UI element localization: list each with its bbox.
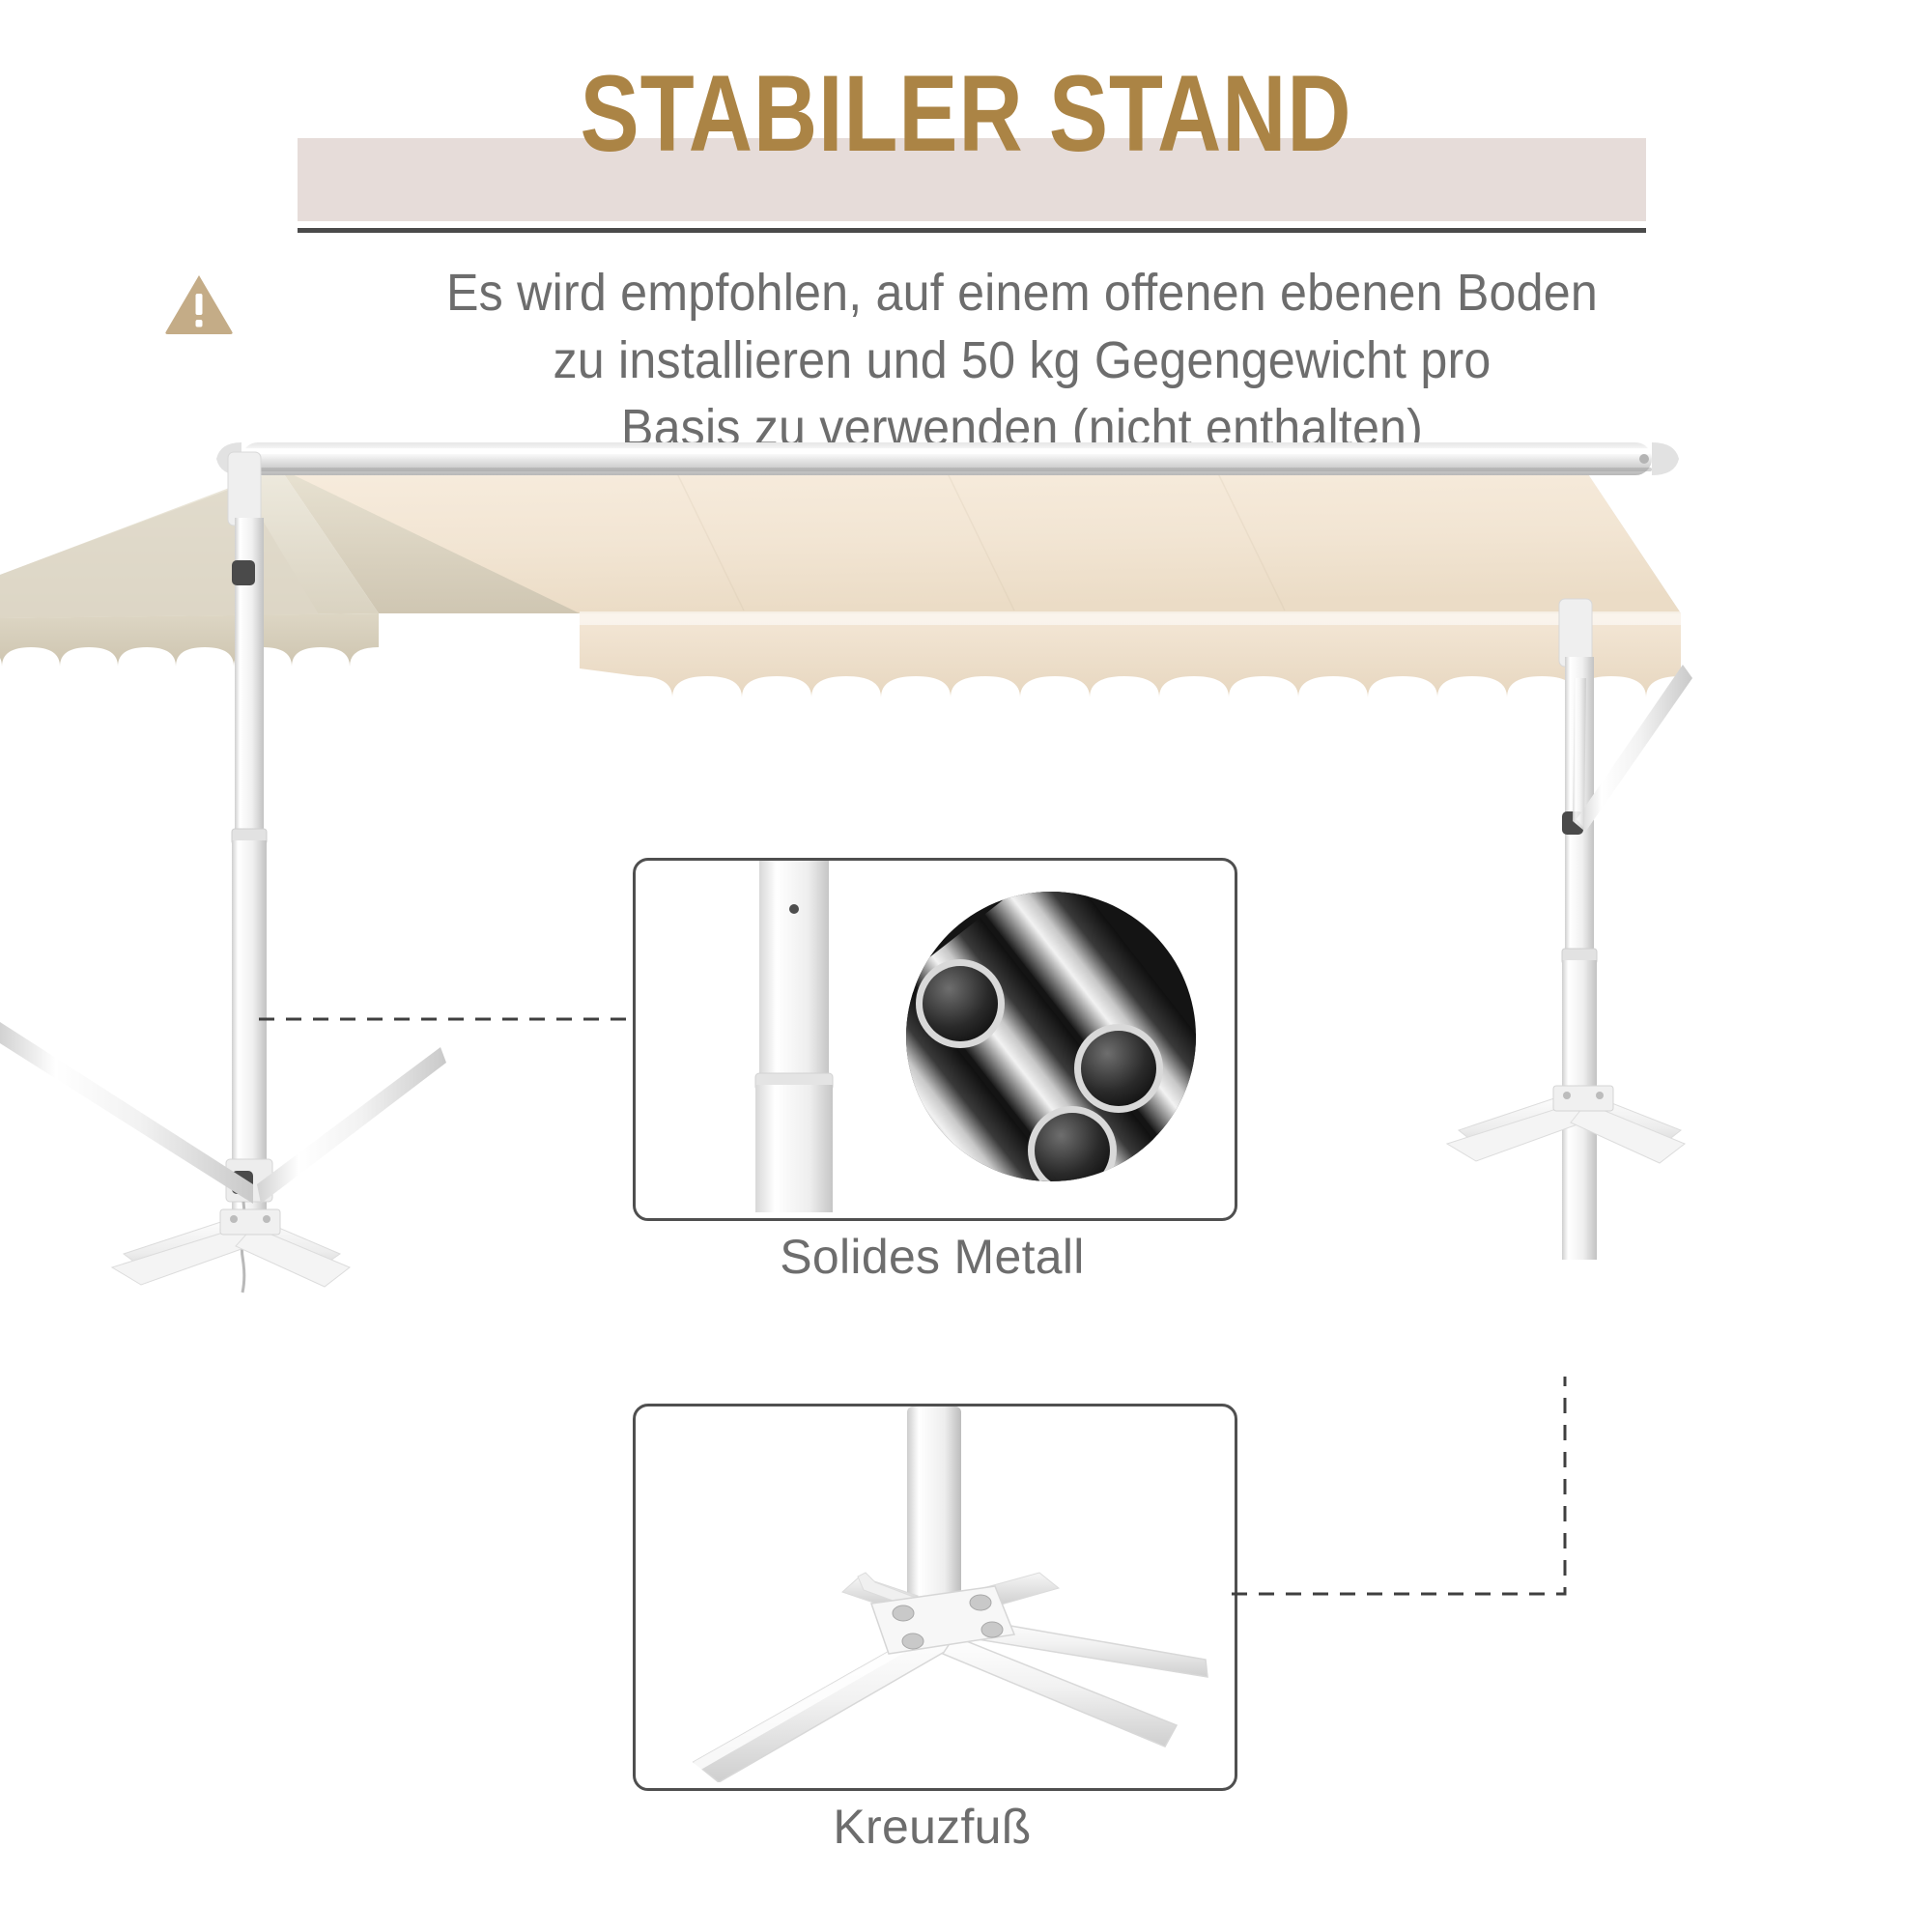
header: STABILER STAND Es wird empfohlen, auf ei… bbox=[0, 0, 1932, 454]
left-brace-arm bbox=[0, 1022, 446, 1204]
left-cross-foot bbox=[112, 1209, 350, 1287]
callout-label-solid-metal: Solides Metall bbox=[633, 1229, 1232, 1285]
roller-tube bbox=[216, 442, 1679, 475]
callout-label-cross-foot: Kreuzfuß bbox=[633, 1799, 1232, 1855]
callout-solid-metal bbox=[633, 858, 1237, 1221]
callout-cross-foot bbox=[633, 1404, 1237, 1791]
cross-foot-icon bbox=[694, 1406, 1207, 1782]
warning-triangle-icon bbox=[164, 272, 234, 334]
infographic-page: STABILER STAND Es wird empfohlen, auf ei… bbox=[0, 0, 1932, 1932]
recommendation-line-2: zu installieren und 50 kg Gegengewicht p… bbox=[328, 327, 1716, 394]
recommendation-line-1: Es wird empfohlen, auf einem offenen ebe… bbox=[328, 259, 1716, 327]
pole-closeup bbox=[755, 861, 833, 1212]
page-title: STABILER STAND bbox=[174, 60, 1758, 168]
title-divider bbox=[298, 228, 1646, 233]
